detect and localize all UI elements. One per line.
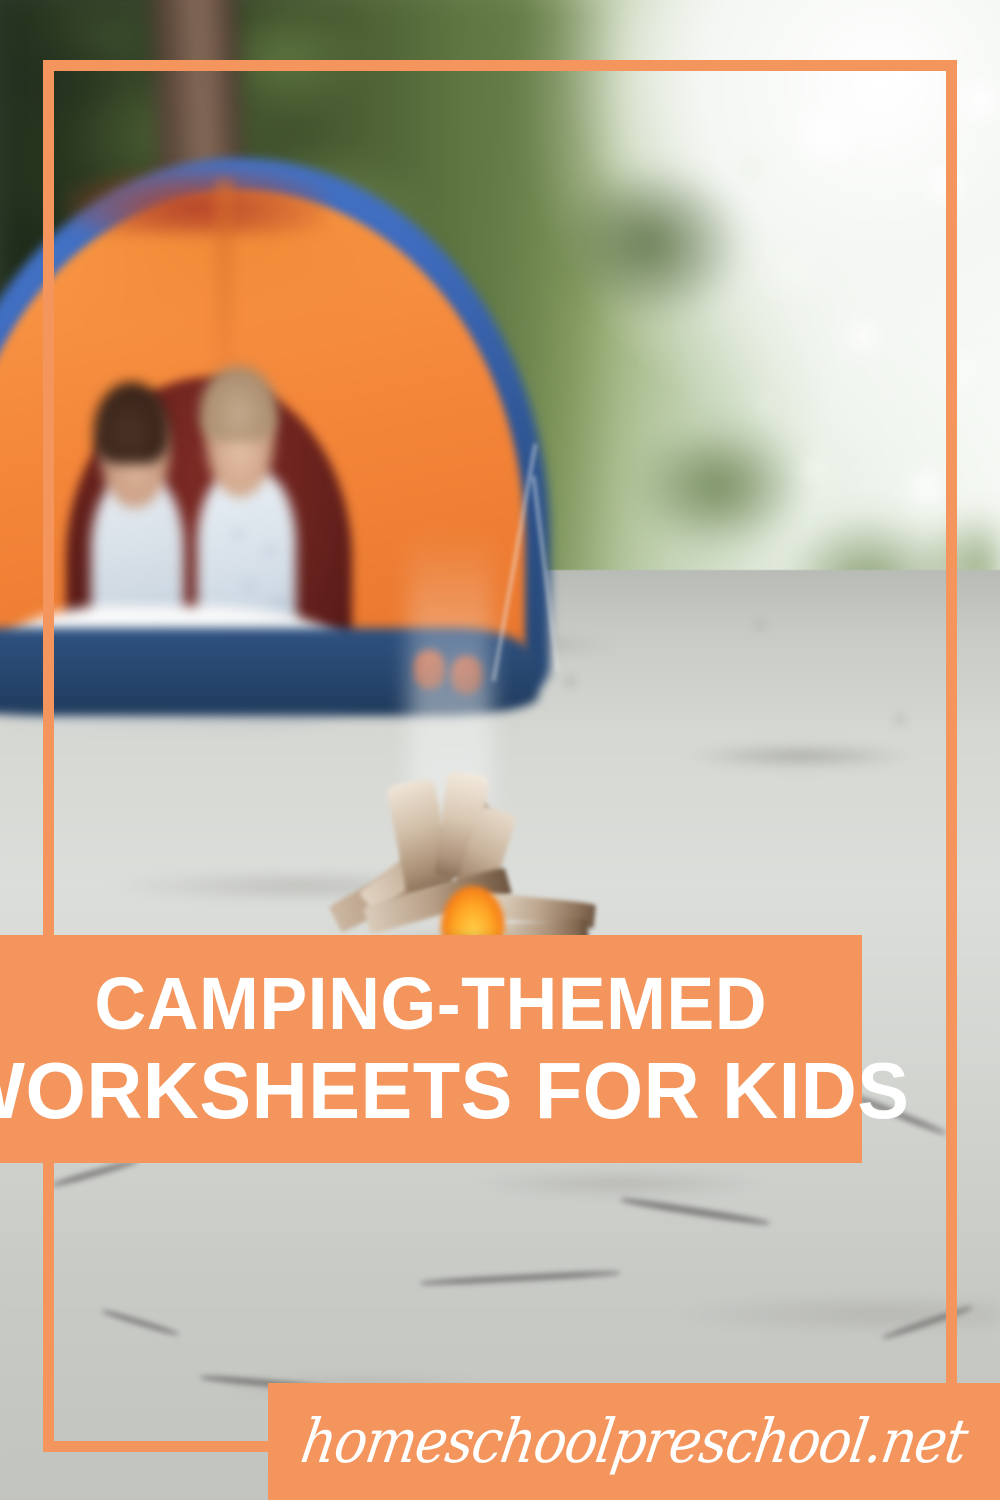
campfire-smoke	[409, 531, 492, 804]
campfire	[300, 765, 620, 960]
background-photo	[0, 0, 1000, 1500]
title-banner: CAMPING-THEMED WORKSHEETS FOR KIDS	[0, 935, 862, 1163]
website-url-banner[interactable]: homeschoolpreschool.net	[268, 1383, 1000, 1500]
title-line-2: WORKSHEETS FOR KIDS	[0, 1050, 910, 1132]
tent-top-shadow	[66, 168, 326, 234]
title-line-1: CAMPING-THEMED	[95, 966, 768, 1041]
pinterest-pin-graphic: CAMPING-THEMED WORKSHEETS FOR KIDS homes…	[0, 0, 1000, 1500]
website-url-text: homeschoolpreschool.net	[296, 1406, 971, 1477]
